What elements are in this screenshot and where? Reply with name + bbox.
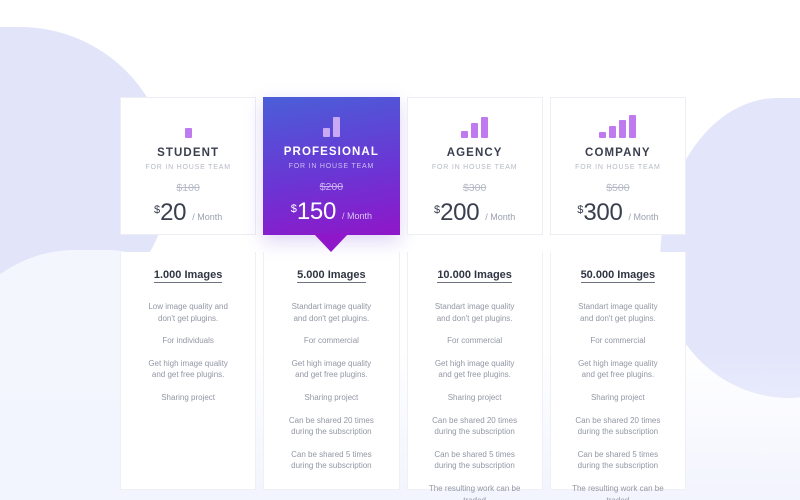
feature-item: Standart image quality and don't get plu… [417,301,533,324]
feature-panel: 50.000 ImagesStandart image quality and … [550,252,686,490]
icon-bar [619,120,626,138]
plan-subtitle: FOR IN HOUSE TEAM [145,164,230,171]
price-amount: 150 [297,200,336,224]
plan-subtitle: FOR IN HOUSE TEAM [432,164,517,171]
pricing-grid: STUDENTFOR IN HOUSE TEAM$100$20/ Month1.… [120,97,686,490]
feature-item: Can be shared 5 times during the subscri… [560,449,676,472]
price-amount: 200 [440,201,479,225]
feature-item: Can be shared 20 times during the subscr… [417,415,533,438]
feature-panel: 5.000 ImagesStandart image quality and d… [263,252,399,490]
icon-bar [333,117,340,137]
plan-old-price: $500 [606,182,629,194]
feature-item: For commercial [560,335,676,347]
price-period: / Month [342,211,372,221]
feature-title: 50.000 Images [581,269,656,283]
plan-old-price: $100 [176,182,199,194]
plan-price: $20/ Month [154,201,222,225]
feature-title: 5.000 Images [297,269,366,283]
icon-bar [323,128,330,137]
pricing-column: COMPANYFOR IN HOUSE TEAM$500$300/ Month5… [550,97,686,490]
price-period: / Month [629,212,659,222]
icon-bar [599,132,606,138]
background-top-wash [0,0,800,60]
feature-item: Get high image quality and get free plug… [417,358,533,381]
feature-item: For commercial [273,335,389,347]
price-period: / Month [192,212,222,222]
icon-bar [471,123,478,138]
feature-title: 10.000 Images [437,269,512,283]
feature-item: Sharing project [273,392,389,404]
bar-chart-3-icon [461,116,488,138]
plan-subtitle: FOR IN HOUSE TEAM [289,163,374,170]
feature-item: Standart image quality and don't get plu… [560,301,676,324]
feature-item: Can be shared 5 times during the subscri… [417,449,533,472]
bar-chart-2-icon [323,115,340,137]
plan-old-price: $200 [320,181,343,193]
bar-chart-1-icon [185,116,192,138]
feature-item: The resulting work can be traded [560,483,676,500]
pricing-column: PROFESIONALFOR IN HOUSE TEAM$200$150/ Mo… [263,97,399,490]
plan-subtitle: FOR IN HOUSE TEAM [575,164,660,171]
price-period: / Month [485,212,515,222]
plan-name: COMPANY [585,147,651,159]
plan-card-profesional[interactable]: PROFESIONALFOR IN HOUSE TEAM$200$150/ Mo… [263,97,399,235]
plan-price: $150/ Month [291,200,372,224]
plan-card-company[interactable]: COMPANYFOR IN HOUSE TEAM$500$300/ Month [550,97,686,235]
price-amount: 20 [160,201,186,225]
icon-bar [185,128,192,138]
feature-item: Low image quality and don't get plugins. [130,301,246,324]
feature-item: For commercial [417,335,533,347]
pricing-page: STUDENTFOR IN HOUSE TEAM$100$20/ Month1.… [0,0,800,500]
plan-price: $300/ Month [577,201,658,225]
pricing-column: AGENCYFOR IN HOUSE TEAM$300$200/ Month10… [407,97,543,490]
feature-item: Standart image quality and don't get plu… [273,301,389,324]
feature-item: Can be shared 5 times during the subscri… [273,449,389,472]
feature-title: 1.000 Images [154,269,223,283]
featured-pointer-icon [314,234,348,252]
feature-item: Get high image quality and get free plug… [273,358,389,381]
feature-item: Sharing project [560,392,676,404]
feature-item: Get high image quality and get free plug… [560,358,676,381]
feature-item: The resulting work can be traded [417,483,533,500]
icon-bar [629,115,636,138]
feature-list: Standart image quality and don't get plu… [417,301,533,500]
feature-panel: 10.000 ImagesStandart image quality and … [407,252,543,490]
icon-bar [609,126,616,138]
plan-name: PROFESIONAL [284,146,379,158]
plan-name: STUDENT [157,147,219,159]
bar-chart-4-icon [599,116,636,138]
price-amount: 300 [583,201,622,225]
pricing-column: STUDENTFOR IN HOUSE TEAM$100$20/ Month1.… [120,97,256,490]
feature-list: Standart image quality and don't get plu… [560,301,676,500]
feature-item: Sharing project [130,392,246,404]
feature-item: For individuals [130,335,246,347]
plan-old-price: $300 [463,182,486,194]
plan-name: AGENCY [447,147,503,159]
feature-item: Can be shared 20 times during the subscr… [560,415,676,438]
icon-bar [481,117,488,138]
feature-list: Standart image quality and don't get plu… [273,301,389,483]
plan-price: $200/ Month [434,201,515,225]
icon-bar [461,131,468,138]
plan-card-student[interactable]: STUDENTFOR IN HOUSE TEAM$100$20/ Month [120,97,256,235]
plan-card-agency[interactable]: AGENCYFOR IN HOUSE TEAM$300$200/ Month [407,97,543,235]
feature-item: Sharing project [417,392,533,404]
feature-list: Low image quality and don't get plugins.… [130,301,246,415]
feature-item: Get high image quality and get free plug… [130,358,246,381]
feature-item: Can be shared 20 times during the subscr… [273,415,389,438]
feature-panel: 1.000 ImagesLow image quality and don't … [120,252,256,490]
